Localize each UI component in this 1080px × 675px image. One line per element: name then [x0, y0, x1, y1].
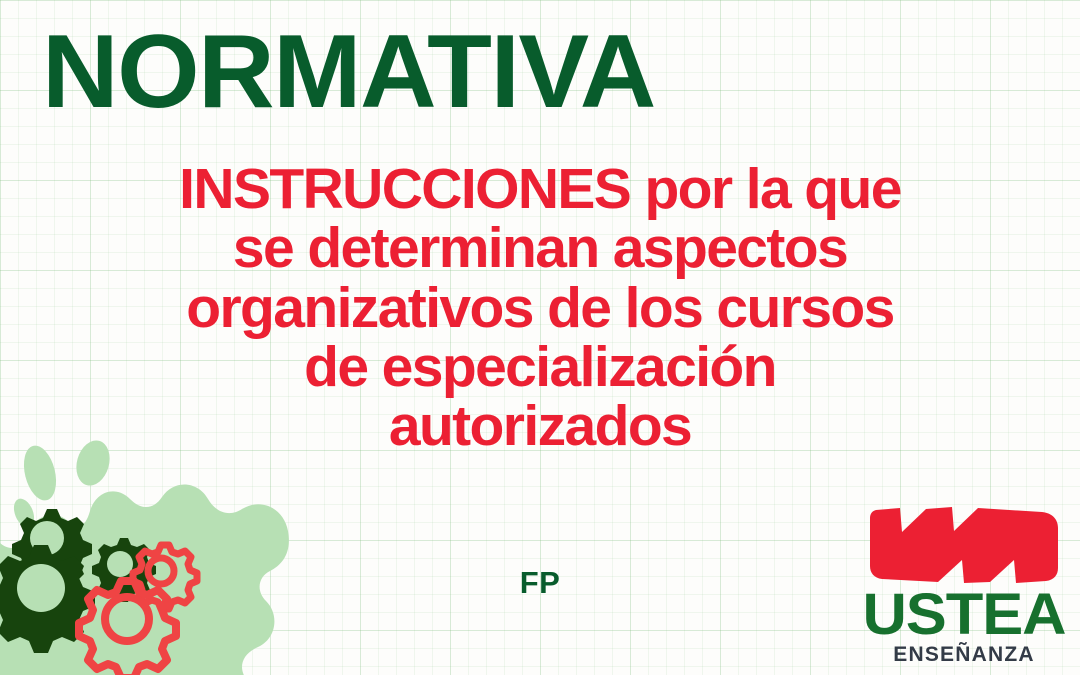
ustea-wordmark: USTEA — [858, 588, 1070, 641]
headline-line: se determinan aspectos — [50, 219, 1030, 278]
headline-line: autorizados — [50, 397, 1030, 456]
page-title: NORMATIVA — [42, 18, 655, 126]
headline-line: organizativos de los cursos — [50, 279, 1030, 338]
headline-block: INSTRUCCIONES por la que se determinan a… — [50, 160, 1030, 456]
poster-canvas: NORMATIVA INSTRUCCIONES por la que se de… — [0, 0, 1080, 675]
ustea-lightning-flag-icon — [866, 506, 1062, 584]
ustea-logo: USTEA ENSEÑANZA — [864, 506, 1064, 667]
headline-line: INSTRUCCIONES por la que — [50, 160, 1030, 219]
headline-line: de especialización — [50, 338, 1030, 397]
